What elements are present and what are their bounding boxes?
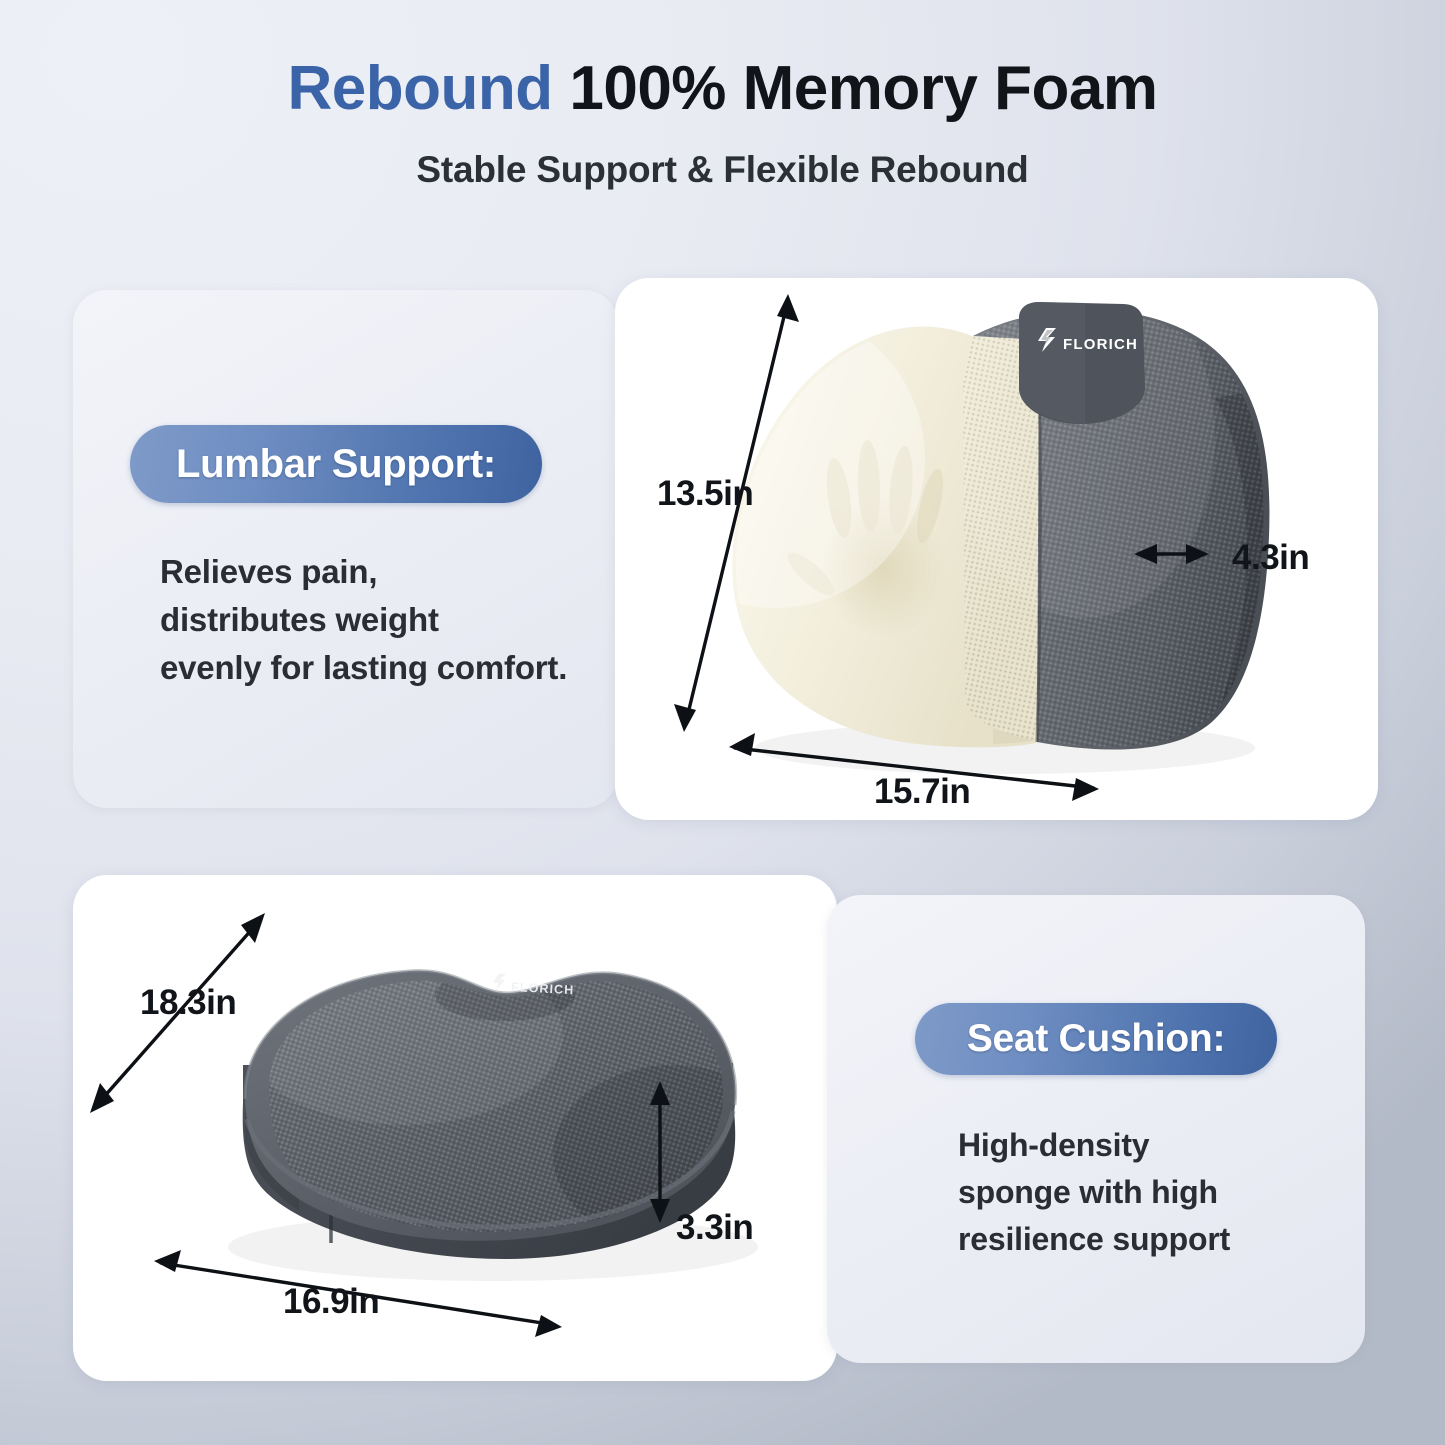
page-title-rest: 100% Memory Foam bbox=[569, 54, 1157, 123]
badge-lumbar-support-label: Lumbar Support: bbox=[176, 442, 496, 487]
lumbar-dim-height: 13.5in bbox=[657, 474, 753, 514]
lumbar-description: Relieves pain, distributes weight evenly… bbox=[160, 548, 567, 692]
page-title-highlight: Rebound bbox=[288, 54, 553, 123]
page-subtitle: Stable Support & Flexible Rebound bbox=[0, 149, 1445, 191]
badge-lumbar-support: Lumbar Support: bbox=[130, 425, 542, 503]
seat-cushion-illustration: FLORICH bbox=[73, 875, 837, 1381]
seat-dim-height: 3.3in bbox=[676, 1208, 753, 1248]
lumbar-brand-text: FLORICH bbox=[1063, 336, 1138, 353]
badge-seat-cushion-label: Seat Cushion: bbox=[967, 1017, 1225, 1061]
lumbar-brand-tag: FLORICH bbox=[1019, 302, 1145, 424]
badge-seat-cushion: Seat Cushion: bbox=[915, 1003, 1277, 1075]
seat-dim-width: 16.9in bbox=[283, 1282, 379, 1322]
seat-image-card: FLORICH bbox=[73, 875, 837, 1381]
infographic-page: Rebound 100% Memory Foam Stable Support … bbox=[0, 0, 1445, 1445]
seat-dim-depth: 18.3in bbox=[140, 983, 236, 1023]
lumbar-dim-width: 15.7in bbox=[874, 772, 970, 812]
lumbar-dim-depth: 4.3in bbox=[1232, 538, 1309, 578]
page-title: Rebound 100% Memory Foam bbox=[0, 56, 1445, 121]
header: Rebound 100% Memory Foam Stable Support … bbox=[0, 56, 1445, 191]
seat-description: High-density sponge with high resilience… bbox=[958, 1122, 1230, 1263]
